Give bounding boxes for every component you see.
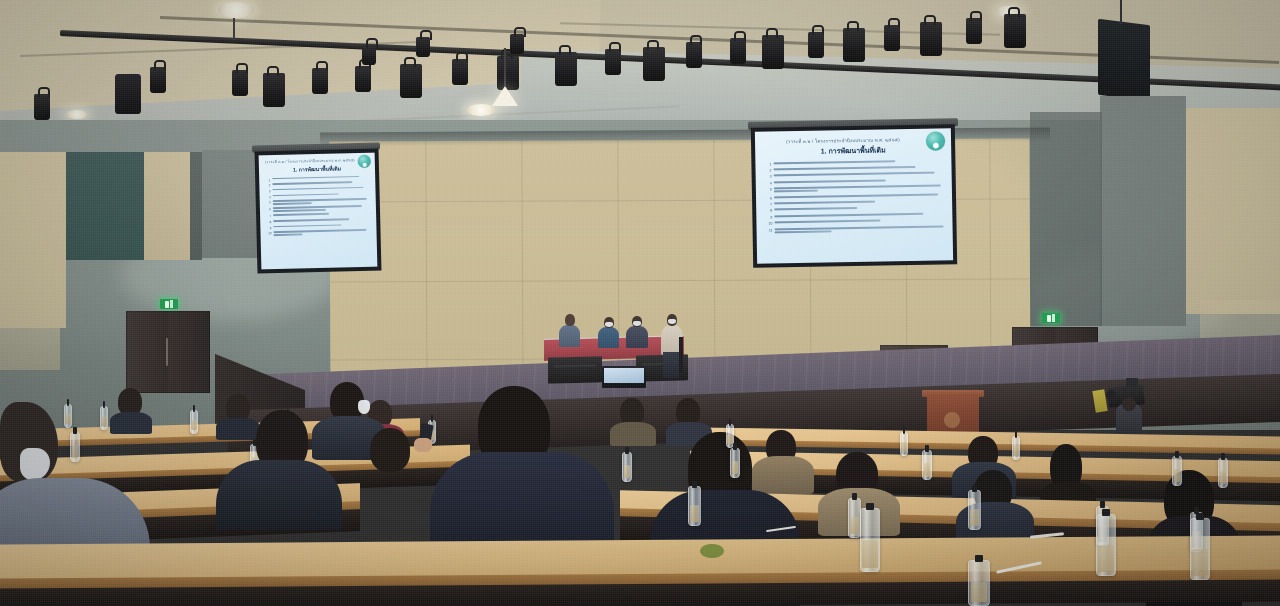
water-bottle-front[interactable]	[860, 508, 880, 572]
stage-light-17	[730, 38, 746, 64]
bullet-num: 6	[266, 207, 271, 211]
video-camera-viewfinder	[1126, 378, 1138, 387]
bullet-text	[272, 187, 369, 192]
water-bottle[interactable]	[968, 490, 981, 530]
bullet-text	[273, 223, 370, 228]
bullet-num: 3	[765, 175, 772, 179]
stage-light-8	[362, 45, 376, 65]
stage-light-23	[966, 18, 982, 44]
stage-light-24	[1004, 14, 1026, 48]
wall-panel-tan-right	[1186, 108, 1280, 314]
stage-light-2	[150, 67, 166, 93]
exit-door-icon	[1052, 314, 1055, 322]
bullet-text	[273, 192, 370, 197]
water-bottle[interactable]	[70, 432, 80, 462]
pendant-rod-1	[504, 48, 506, 86]
bullet-text	[273, 218, 370, 223]
water-bottle[interactable]	[1012, 436, 1020, 460]
bullet-num: 11	[766, 228, 773, 232]
stage-light-11	[416, 37, 430, 57]
stage-light-21	[884, 25, 900, 51]
bullet-num: 10	[765, 222, 772, 226]
water-bottle[interactable]	[1172, 456, 1182, 486]
door-handle-left[interactable]	[166, 338, 168, 366]
bullet-num: 5	[266, 200, 271, 204]
wall-panel-tan-midleft	[144, 152, 190, 260]
exit-sign-right	[1042, 313, 1060, 323]
projection-screen-right[interactable]: (วาระที่ ๓.๒ / โครงการประจำปีงบประมาณ พ.…	[751, 124, 957, 268]
stage-light-19	[808, 32, 824, 58]
wall-panel-right-edge	[1030, 112, 1102, 326]
slide-body-left: 1 2 3 4 5 6 7 8 9 10	[265, 175, 370, 237]
bullet-text	[774, 212, 943, 218]
ceiling-speaker-right	[1098, 19, 1150, 101]
slide-title-left: 1. การพัฒนาพื้นที่เติม	[265, 164, 369, 175]
bullet-text	[774, 193, 943, 199]
stage-light-9	[452, 59, 468, 85]
stage-light-14	[643, 47, 665, 81]
wall-panel-tan-left	[0, 152, 66, 328]
bullet-text	[273, 229, 370, 237]
wall-panel-dark-strip	[190, 152, 202, 260]
water-bottle[interactable]	[900, 432, 908, 456]
bullet-num: 1	[265, 178, 270, 182]
bullet-num: 8	[765, 209, 772, 213]
slide-title-right: 1. การพัฒนาพื้นที่เติม	[764, 144, 942, 158]
road-case-left	[548, 356, 602, 383]
stage-light-16	[686, 42, 702, 68]
bullet-num: 2	[765, 168, 772, 172]
video-camera-lens	[1106, 390, 1116, 400]
exit-running-figure-icon	[165, 301, 169, 308]
bullet-num: 2	[265, 183, 270, 187]
bullet-num: 4	[765, 181, 772, 185]
bullet-num: 1	[764, 162, 771, 166]
pendant-light-1	[492, 86, 518, 106]
panelist-2-mask	[605, 322, 613, 327]
bullet-text	[774, 206, 943, 212]
attendee-r2-1-mask	[358, 400, 370, 414]
stage-light-12	[555, 52, 577, 86]
confidence-monitor	[602, 366, 646, 388]
water-bottle-front[interactable]	[968, 560, 990, 606]
water-bottle[interactable]	[190, 410, 198, 434]
panelist-3-mask	[633, 321, 641, 326]
attendee-r2-2-body	[752, 456, 814, 494]
ceiling-speaker-right-mount	[1120, 0, 1122, 24]
recessed-downlight-4	[66, 110, 88, 119]
panelist-4-legs	[663, 352, 679, 378]
water-bottle-front[interactable]	[1096, 514, 1116, 576]
bullet-num: 9	[266, 226, 271, 230]
attendee-hand	[414, 438, 432, 452]
conference-hall-photo: (วาระที่ ๓.๒ / โครงการประจำปีงบประมาณ พ.…	[0, 0, 1280, 606]
stage-light-18	[762, 35, 784, 69]
bullet-text	[272, 181, 369, 186]
panelist-1-body	[559, 325, 580, 347]
stage-light-10	[497, 56, 519, 90]
panelist-3-body	[626, 326, 648, 348]
stage-light-4	[263, 73, 285, 107]
bullet-text	[774, 172, 943, 178]
bullet-text	[774, 165, 943, 171]
slide-body-right: 1 2 3 4 5 6 7 8 9 10 11	[764, 159, 943, 234]
bullet-text	[774, 185, 943, 194]
water-bottle[interactable]	[922, 450, 932, 480]
screen-surface-left: (วาระที่ ๓.๒ / โครงการประจำปีงบประมาณ พ.…	[259, 153, 378, 270]
stage-light-6	[355, 66, 371, 92]
projection-screen-left[interactable]: (วาระที่ ๓.๒ / โครงการประจำปีงบประมาณ พ.…	[255, 149, 382, 274]
bullet-num: 8	[266, 220, 271, 224]
water-bottle[interactable]	[100, 406, 108, 430]
stage-light-7	[400, 64, 422, 98]
attendee-front-3	[370, 428, 410, 472]
bullet-text	[273, 212, 370, 217]
recessed-downlight-1	[218, 2, 254, 18]
stage-light-15	[510, 34, 524, 54]
bullet-text	[774, 199, 943, 205]
attendee-r1-2-body	[216, 418, 260, 440]
bullet-text	[775, 225, 944, 234]
bullet-num: 9	[765, 215, 772, 219]
attendee-r1-1-body	[110, 412, 152, 434]
exit-running-figure-icon	[1047, 315, 1051, 322]
panelist-1-head	[565, 314, 575, 326]
bullet-text	[774, 178, 943, 184]
attendee-r1-4-body	[610, 422, 656, 446]
water-bottle[interactable]	[730, 448, 740, 478]
exit-door-icon	[170, 300, 173, 308]
bullet-num: 5	[765, 187, 772, 191]
bullet-num: 3	[265, 189, 270, 193]
panel-grid-h2	[330, 278, 1030, 282]
exit-door-left[interactable]	[126, 311, 210, 393]
bullet-num: 4	[266, 195, 271, 199]
water-bottle-front[interactable]	[1190, 518, 1210, 580]
water-bottle[interactable]	[1218, 458, 1228, 488]
panelist-4-chair	[679, 337, 683, 373]
stage-light-1	[34, 94, 50, 120]
bullet-num: 7	[765, 202, 772, 206]
pendant-rod-2	[233, 18, 235, 40]
camera-operator-head	[1122, 397, 1136, 411]
wall-panel-tan-belowteal	[0, 328, 60, 370]
panelist-2-body	[598, 327, 619, 348]
bullet-text	[272, 175, 369, 180]
bullet-text	[774, 219, 943, 225]
bullet-num: 10	[266, 232, 271, 236]
stage-light-20	[843, 28, 865, 62]
wall-panel-grey-right	[1100, 96, 1186, 326]
bullet-text	[773, 159, 942, 165]
podium-emblem	[944, 412, 960, 428]
moving-head-light-1	[115, 74, 141, 114]
bullet-num: 6	[765, 196, 772, 200]
bullet-num: 7	[266, 215, 271, 219]
water-bottle[interactable]	[622, 452, 632, 482]
green-object	[700, 544, 724, 558]
stage-light-3	[232, 70, 248, 96]
exit-sign-left	[160, 299, 178, 309]
panelist-4-mask	[668, 319, 676, 324]
stage-light-5	[312, 68, 328, 94]
water-bottle[interactable]	[688, 486, 701, 526]
screen-surface-right: (วาระที่ ๓.๒ / โครงการประจำปีงบประมาณ พ.…	[755, 128, 953, 263]
wall-panel-teal	[66, 152, 144, 260]
attendee-front-2-body	[216, 460, 342, 530]
water-bottle[interactable]	[64, 404, 72, 428]
stage-light-13	[605, 49, 621, 75]
stage-light-22	[920, 22, 942, 56]
